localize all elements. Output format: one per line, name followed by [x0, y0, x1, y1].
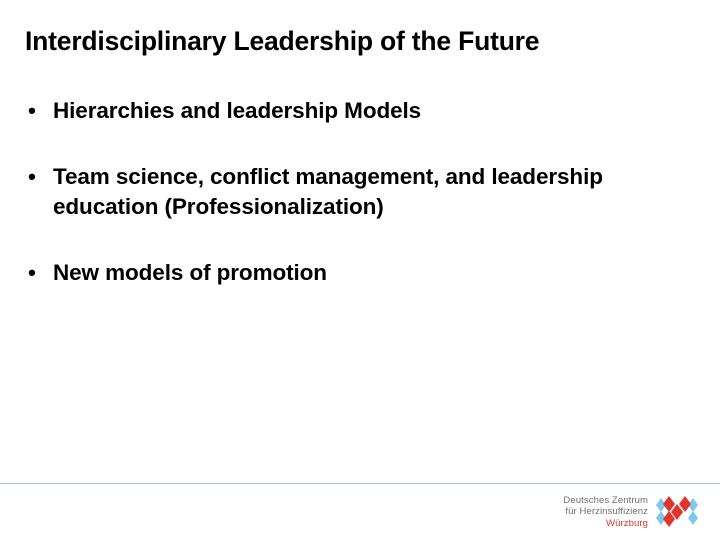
- footer-divider: [0, 483, 720, 484]
- logo-wordmark: Deutsches Zentrum für Herzinsuffizienz W…: [563, 495, 648, 530]
- bullet-list: • Hierarchies and leadership Models • Te…: [25, 96, 665, 288]
- page-title: Interdisciplinary Leadership of the Futu…: [25, 27, 695, 57]
- bullet-point-icon: •: [28, 96, 46, 126]
- bullet-point-icon: •: [28, 162, 46, 192]
- bullet-text: Hierarchies and leadership Models: [53, 96, 653, 126]
- list-item: • New models of promotion: [25, 258, 665, 288]
- logo-line-1: Deutsches Zentrum: [563, 495, 648, 507]
- bullet-point-icon: •: [28, 258, 46, 288]
- presentation-slide: Interdisciplinary Leadership of the Futu…: [0, 0, 720, 540]
- heart-diamond-logo-icon: [654, 495, 700, 529]
- list-item: • Team science, conflict management, and…: [25, 162, 665, 222]
- bullet-text: New models of promotion: [53, 258, 653, 288]
- logo-diamond-group: [656, 496, 698, 527]
- list-item: • Hierarchies and leadership Models: [25, 96, 665, 126]
- logo-city: Würzburg: [563, 518, 648, 530]
- organization-logo: Deutsches Zentrum für Herzinsuffizienz W…: [548, 491, 700, 533]
- bullet-text: Team science, conflict management, and l…: [53, 162, 653, 222]
- logo-line-2: für Herzinsuffizienz: [563, 506, 648, 518]
